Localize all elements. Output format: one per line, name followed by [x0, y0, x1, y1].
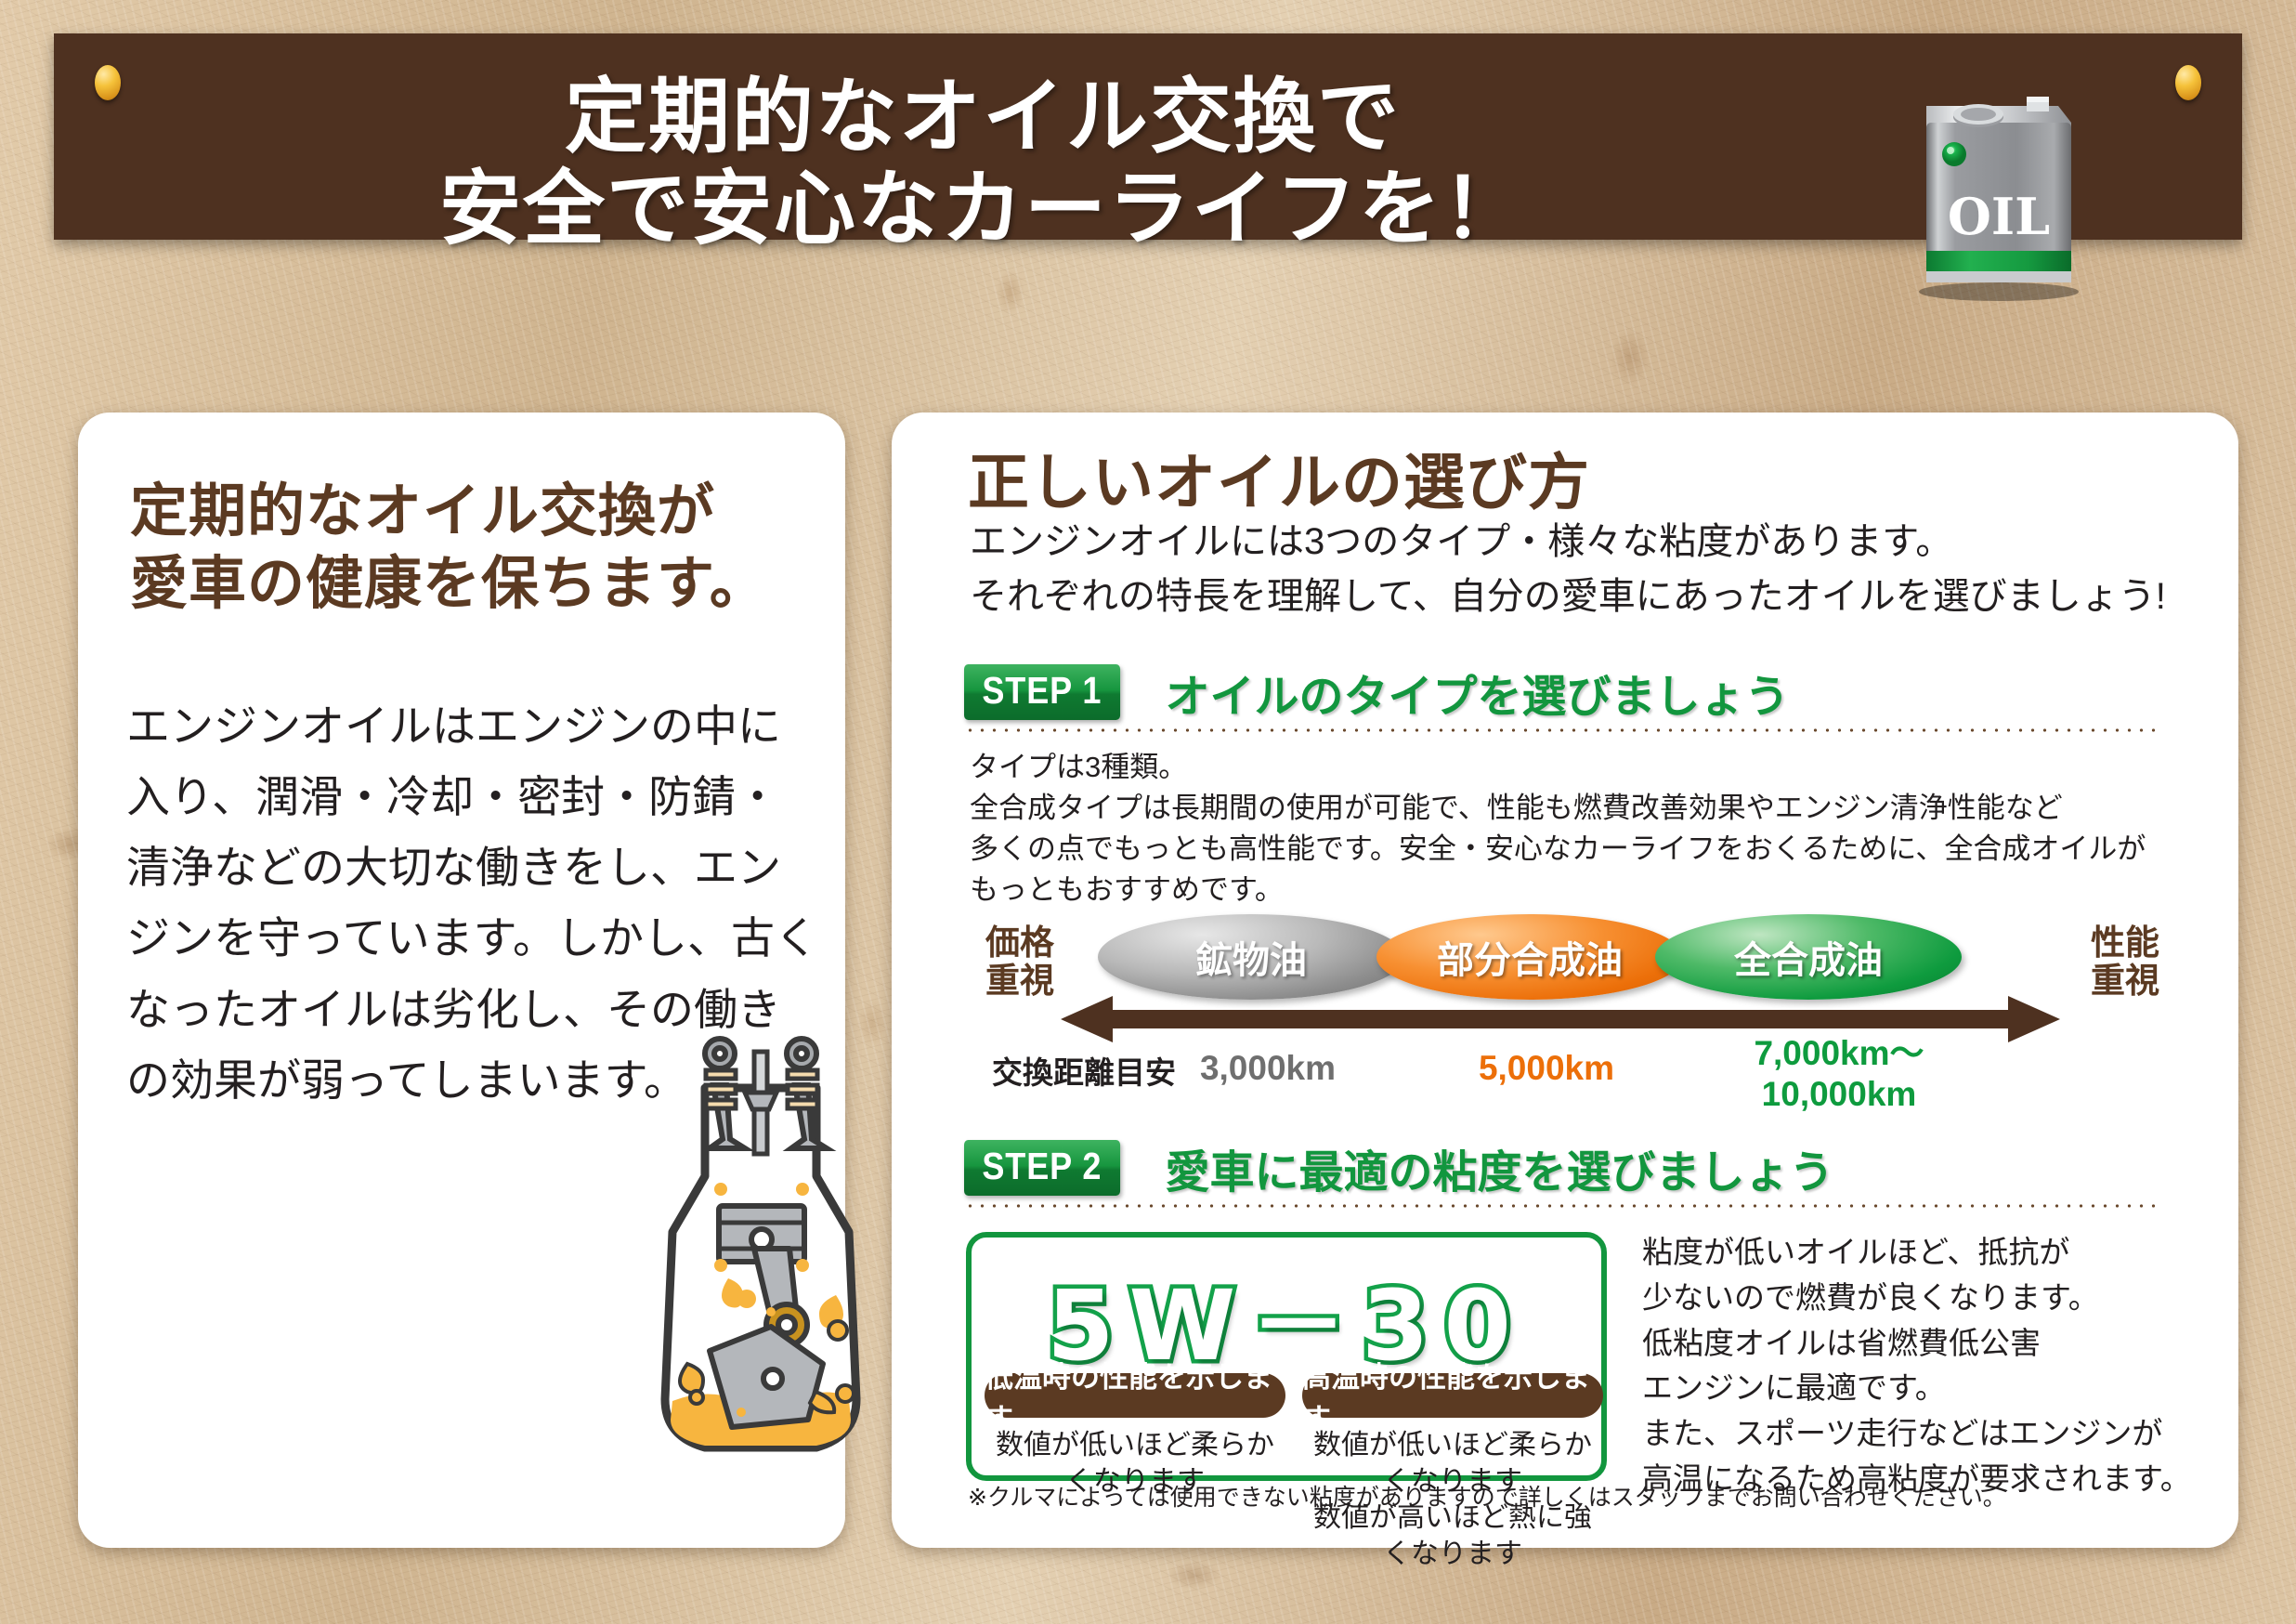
pushpin-right-icon: [2175, 65, 2201, 100]
price-label-line1: 価格: [964, 923, 1076, 962]
perf-label-line1: 性能: [2069, 923, 2181, 962]
interval-full-line2: 10,000km: [1700, 1074, 1978, 1115]
left-info-card: 定期的なオイル交換が 愛車の健康を保ちます。 エンジンオイルはエンジンの中に入り…: [78, 413, 845, 1548]
banner-title-line1: 定期的なオイル交換で: [230, 71, 1735, 163]
oil-can-label: OIL: [1948, 187, 2050, 246]
viscosity-side-description: 粘度が低いオイルほど、抵抗が 少ないので燃費が良くなります。 低粘度オイルは省燃…: [1642, 1230, 2199, 1502]
pill-high-temperature: 高温時の性能を示します: [1302, 1373, 1603, 1418]
interval-row-label: 交換距離目安: [992, 1048, 1176, 1093]
engine-piston-illustration: [617, 1000, 905, 1483]
oil-type-full-synthetic: 全合成油: [1655, 914, 1962, 1000]
oil-type-mineral: 鉱物油: [1098, 914, 1404, 1000]
step-2-header: STEP 2 愛車に最適の粘度を選びましょう: [964, 1135, 1834, 1200]
pushpin-left-icon: [95, 65, 121, 100]
side-line2: 少ないので燃費が良くなります。: [1642, 1276, 2199, 1321]
pill-low-temperature: 低温時の性能を示します: [985, 1373, 1285, 1418]
side-line3: 低粘度オイルは省燃費低公害: [1642, 1321, 2199, 1367]
diagram-label-price: 価格 重視: [964, 923, 1076, 1001]
right-info-card: 正しいオイルの選び方 エンジンオイルには3つのタイプ・様々な粘度があります。 そ…: [892, 413, 2238, 1548]
step-1-description: タイプは3種類。 全合成タイプは長期間の使用が可能で、性能も燃費改善効果やエンジ…: [970, 747, 2177, 910]
left-heading-line1: 定期的なオイル交換が: [130, 476, 817, 548]
perf-label-line2: 重視: [2069, 962, 2181, 1000]
oil-type-diagram: 価格 重視 性能 重視 鉱物油 部分合成油 全合成油 交換距離目安 3,000k…: [957, 914, 2183, 1100]
banner-title: 定期的なオイル交換で 安全で安心なカーライフを！: [230, 71, 1735, 254]
divider-step-1: [964, 728, 2162, 732]
side-line4: エンジンに最適です。: [1642, 1366, 2199, 1411]
banner-title-line2: 安全で安心なカーライフを！: [230, 163, 1735, 255]
step-1-header: STEP 1 オイルのタイプを選びましょう: [964, 660, 1790, 725]
oil-can-illustration: OIL: [1889, 69, 2103, 301]
interval-mineral: 3,000km: [1161, 1048, 1375, 1089]
side-line1: 粘度が低いオイルほど、抵抗が: [1642, 1230, 2199, 1276]
step-1-text-line4: もっともおすすめです。: [970, 870, 2177, 910]
diagram-label-performance: 性能 重視: [2069, 923, 2181, 1001]
interval-full-synthetic: 7,000km〜 10,000km: [1700, 1033, 1978, 1116]
step-1-badge: STEP 1: [964, 664, 1120, 719]
interval-partial-synthetic: 5,000km: [1440, 1048, 1653, 1089]
step-1-title: オイルのタイプを選びましょう: [1166, 660, 1790, 725]
intro-line1: エンジンオイルには3つのタイプ・様々な粘度があります。: [970, 515, 2196, 570]
left-card-heading: 定期的なオイル交換が 愛車の健康を保ちます。: [130, 476, 817, 621]
left-heading-line2: 愛車の健康を保ちます。: [130, 548, 817, 621]
intro-line2: それぞれの特長を理解して、自分の愛車にあったオイルを選びましょう!: [970, 570, 2196, 624]
viscosity-grade-box: 5W－30 低温時の性能を示します 高温時の性能を示します 数値が低いほど柔らか…: [966, 1232, 1607, 1481]
step-1-text-line3: 多くの点でもっとも高性能です。安全・安心なカーライフをおくるために、全合成オイル…: [970, 829, 2177, 870]
header-banner: 定期的なオイル交換で 安全で安心なカーライフを！: [54, 33, 2242, 240]
right-card-intro: エンジンオイルには3つのタイプ・様々な粘度があります。 それぞれの特長を理解して…: [970, 515, 2196, 624]
oil-type-partial-synthetic: 部分合成油: [1376, 914, 1683, 1000]
step-2-title: 愛車に最適の粘度を選びましょう: [1166, 1135, 1834, 1200]
side-line5: また、スポーツ走行などはエンジンが: [1642, 1411, 2199, 1457]
right-card-title: 正しいオイルの選び方: [968, 433, 1590, 522]
footnote-text: ※クルマによっては使用できない粘度がありますので詳しくはスタッフまでお問い合わせ…: [968, 1479, 2006, 1513]
divider-step-2: [964, 1204, 2162, 1208]
step-2-badge: STEP 2: [964, 1140, 1120, 1195]
step-1-text-line1: タイプは3種類。: [970, 747, 2177, 788]
interval-full-line1: 7,000km〜: [1700, 1033, 1978, 1074]
step-1-text-line2: 全合成タイプは長期間の使用が可能で、性能も燃費改善効果やエンジン清浄性能など: [970, 788, 2177, 829]
price-label-line2: 重視: [964, 962, 1076, 1000]
